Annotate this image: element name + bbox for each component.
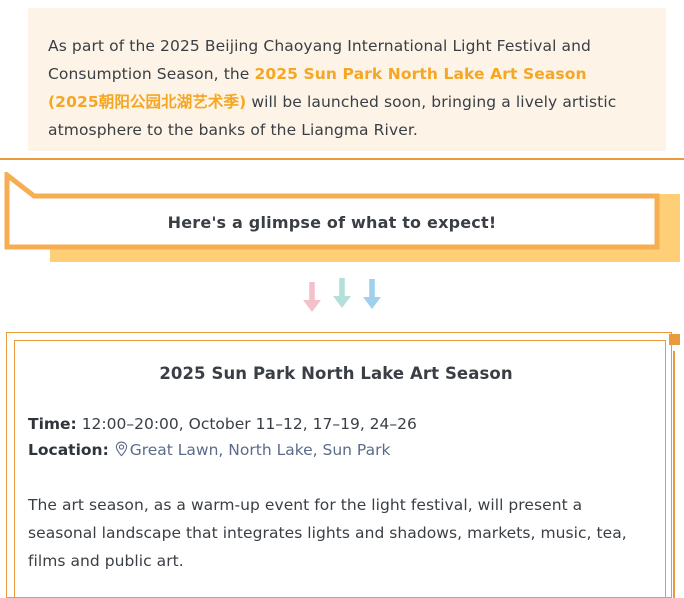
meta-value-location: Great Lawn, North Lake, Sun Park	[130, 441, 391, 459]
meta-key-location: Location:	[28, 441, 109, 459]
meta-row-time: Time: 12:00–20:00, October 11–12, 17–19,…	[28, 411, 644, 437]
card-corner-square-accent	[669, 334, 680, 345]
section-divider	[0, 158, 684, 160]
card-title: 2025 Sun Park North Lake Art Season	[28, 364, 644, 383]
intro-paragraph: As part of the 2025 Beijing Chaoyang Int…	[48, 32, 638, 144]
arrow-group	[0, 278, 684, 318]
glimpse-banner: Here's a glimpse of what to expect!	[4, 172, 680, 262]
map-pin-icon	[115, 439, 128, 465]
meta-value-time: 12:00–20:00, October 11–12, 17–19, 24–26	[82, 415, 417, 433]
card-body-text: The art season, as a warm-up event for t…	[28, 491, 644, 575]
meta-row-location: Location: Great Lawn, North Lake, Sun Pa…	[28, 437, 644, 465]
intro-block: As part of the 2025 Beijing Chaoyang Int…	[28, 8, 666, 151]
down-arrow-blue-icon	[362, 279, 382, 311]
banner-label: Here's a glimpse of what to expect!	[4, 194, 660, 250]
down-arrow-mint-icon	[332, 278, 352, 310]
meta-key-time: Time:	[28, 415, 77, 433]
card-corner-vertical-accent	[673, 351, 675, 598]
detail-card: 2025 Sun Park North Lake Art Season Time…	[14, 340, 666, 598]
down-arrow-pink-icon	[302, 282, 322, 314]
card-meta-list: Time: 12:00–20:00, October 11–12, 17–19,…	[28, 411, 644, 465]
